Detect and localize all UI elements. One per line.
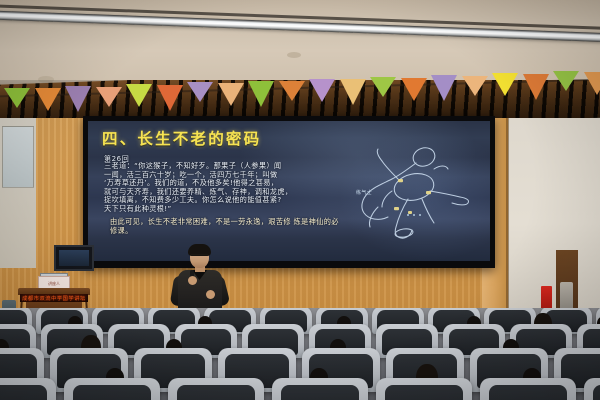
glasses-icon bbox=[191, 254, 208, 259]
bunting-flag bbox=[340, 79, 366, 105]
bunting-flag bbox=[462, 76, 488, 96]
seat-cushion bbox=[385, 385, 464, 400]
podium-led-banner: 成都市双流中学国学讲坛 bbox=[20, 294, 88, 302]
bunting-flag bbox=[248, 81, 274, 107]
auditorium-seat[interactable] bbox=[584, 378, 600, 400]
projection-screen[interactable]: 四、长生不老的密码 第26回 三老道：“你这猴子，不知好歹。那果子（人参果）闻 … bbox=[88, 121, 490, 261]
seat-cushion bbox=[489, 385, 568, 400]
bunting-flag bbox=[218, 83, 244, 106]
ceiling-vent-icon bbox=[287, 52, 301, 58]
wall-edge bbox=[506, 118, 509, 328]
slide-body-line: 天下只有此种灵根!” bbox=[104, 205, 342, 214]
slide-conclusion: 由此可见，长生不老非常困难，不是一劳永逸，艰苦修 炼是神仙的必修课。 bbox=[110, 217, 340, 235]
bunting-flag bbox=[65, 86, 91, 112]
seat-cushion bbox=[73, 385, 152, 400]
bunting-flag bbox=[4, 88, 30, 108]
podium-led-text: 成都市双流中学国学讲坛 bbox=[22, 295, 86, 302]
slide-figure-illustration: 练气士 bbox=[338, 135, 478, 247]
slide-conclusion-line: 由此可见，长生不老非常困难，不是一劳永逸，艰苦修 bbox=[110, 217, 291, 226]
confidence-monitor bbox=[54, 245, 94, 271]
speaker-right-hand bbox=[206, 290, 215, 299]
seat-cushion bbox=[593, 385, 600, 400]
bunting-flag bbox=[35, 88, 61, 111]
bunting-flag bbox=[279, 81, 305, 101]
bunting-flag bbox=[187, 82, 213, 102]
bunting-flag bbox=[553, 71, 579, 91]
bunting-flag bbox=[126, 84, 152, 107]
slide-body-line: ‘万寿草还丹’。我们的道，不及他多矣!他得之甚易， bbox=[104, 179, 342, 188]
bunting-flag bbox=[96, 87, 122, 107]
auditorium-seat[interactable] bbox=[168, 378, 264, 400]
bunting-flag bbox=[523, 74, 549, 100]
bunting-flag bbox=[584, 72, 600, 95]
auditorium-seat[interactable] bbox=[0, 378, 56, 400]
seat-cushion bbox=[177, 385, 256, 400]
slide-body-line: 三老道：“你这猴子，不知好歹。那果子（人参果）闻 bbox=[104, 162, 342, 171]
figure-label: 练气士 bbox=[356, 189, 372, 196]
seat-cushion bbox=[0, 385, 47, 400]
bunting-flag bbox=[492, 73, 518, 96]
bunting-flag bbox=[309, 79, 335, 102]
audience-seating bbox=[0, 308, 600, 400]
podium-name-card-text: 讲座人 bbox=[39, 281, 69, 287]
slide-title: 四、长生不老的密码 bbox=[102, 131, 352, 148]
slide-body-line: 就可与天齐寿，我们还要养精、炼气、存神，调和龙虎， bbox=[104, 188, 342, 197]
bunting-flag bbox=[431, 75, 457, 101]
auditorium-seat[interactable] bbox=[480, 378, 576, 400]
bunting-flag bbox=[401, 78, 427, 101]
right-wall-panel bbox=[508, 118, 600, 328]
auditorium-seat[interactable] bbox=[64, 378, 160, 400]
auditorium-seat[interactable] bbox=[272, 378, 368, 400]
slide-body-line: 一闻，活三百六十岁；吃一个，活四万七千年；叫做 bbox=[104, 171, 342, 180]
left-window bbox=[2, 126, 34, 188]
seat-cushion bbox=[281, 385, 360, 400]
slide-body-line: 捉坎填离，不知费多少工夫。你怎么说他的能值甚紧? bbox=[104, 196, 342, 205]
lecture-hall-photo: 四、长生不老的密码 第26回 三老道：“你这猴子，不知好歹。那果子（人参果）闻 … bbox=[0, 0, 600, 400]
auditorium-seat[interactable] bbox=[376, 378, 472, 400]
slide-body: 三老道：“你这猴子，不知好歹。那果子（人参果）闻 一闻，活三百六十岁；吃一个，活… bbox=[104, 162, 342, 214]
speaker-left-hand bbox=[188, 276, 197, 285]
bunting-flag bbox=[370, 77, 396, 97]
bunting-flag bbox=[157, 85, 183, 111]
